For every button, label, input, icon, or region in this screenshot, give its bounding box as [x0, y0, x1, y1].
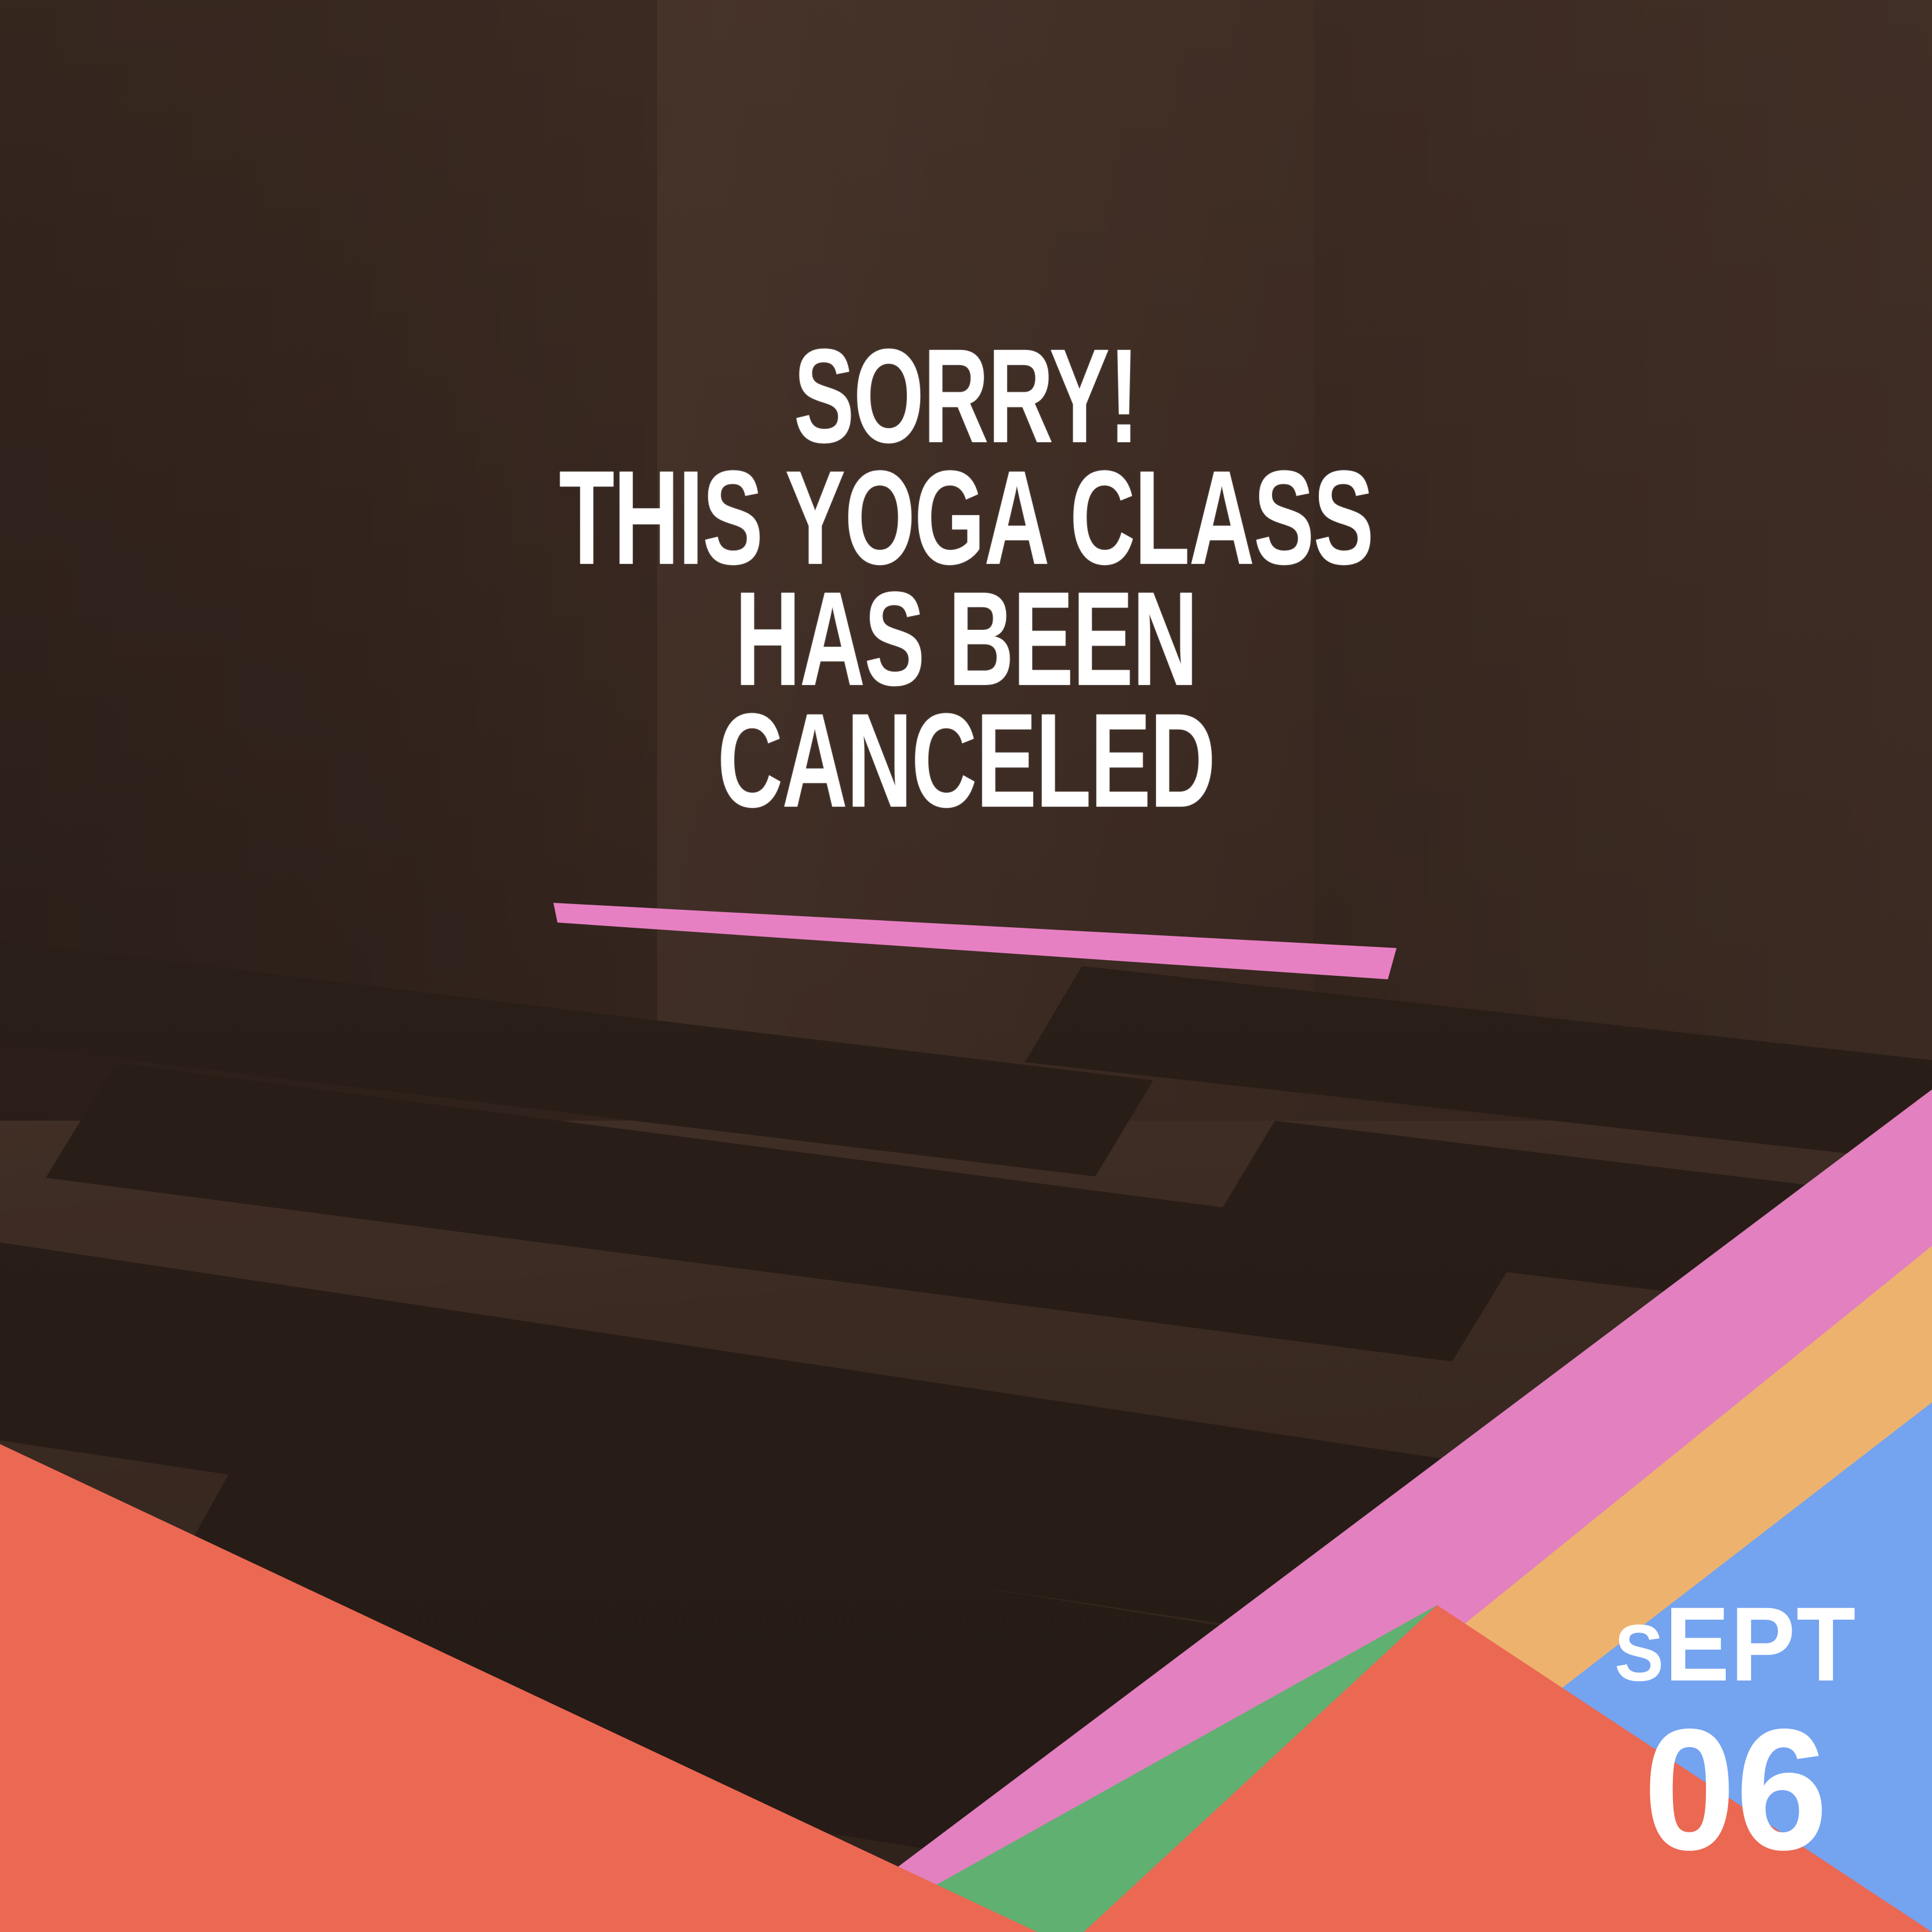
date-day: 06 [1609, 1704, 1862, 1876]
date-month-rest: EPT [1665, 1585, 1857, 1703]
date-month: SEPT [1614, 1591, 1857, 1697]
poster-canvas: SORRY! THIS YOGA CLASS HAS BEEN CANCELED [0, 0, 1932, 1932]
date-badge: SEPT 06 [1604, 1591, 1867, 1876]
headline-block: SORRY! THIS YOGA CLASS HAS BEEN CANCELED [0, 325, 1932, 811]
headline-line-4: CANCELED [193, 689, 1738, 832]
date-month-initial: S [1614, 1609, 1665, 1698]
